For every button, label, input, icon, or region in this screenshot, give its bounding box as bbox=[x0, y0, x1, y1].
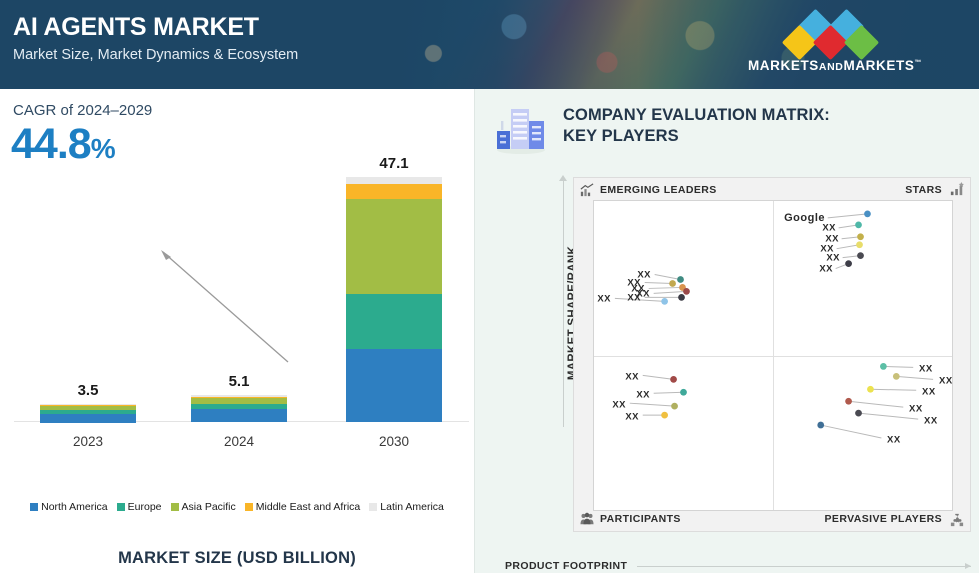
stacked-bar[interactable]: 5.1 bbox=[191, 395, 287, 422]
quadrant-label-participants: PARTICIPANTS bbox=[600, 513, 681, 525]
matrix-point-pervasive[interactable] bbox=[855, 410, 862, 417]
point-leader-line bbox=[645, 282, 673, 283]
legend-swatch bbox=[117, 503, 125, 511]
cem-title-line1: COMPANY EVALUATION MATRIX: bbox=[563, 105, 830, 126]
point-leader-line bbox=[859, 413, 919, 419]
header-text-block: AI AGENTS MARKET Market Size, Market Dyn… bbox=[13, 12, 298, 65]
matrix-label-xx: XX bbox=[636, 389, 650, 400]
matrix-points-svg bbox=[594, 201, 952, 510]
xaxis-arrow-line bbox=[637, 566, 971, 567]
cagr-label: CAGR of 2024–2029 bbox=[13, 102, 152, 119]
matrix-point-pervasive[interactable] bbox=[880, 363, 887, 370]
market-size-heading: MARKET SIZE (USD BILLION) bbox=[0, 549, 474, 568]
bar-chart-star-icon bbox=[950, 182, 964, 196]
chart-legend: North AmericaEuropeAsia PacificMiddle Ea… bbox=[0, 501, 474, 513]
bar-value-label: 5.1 bbox=[191, 373, 287, 395]
matrix-label-xx: XX bbox=[924, 415, 938, 426]
logo-word-markets-1: MARKETS bbox=[748, 58, 819, 73]
matrix-point-emerging[interactable] bbox=[661, 298, 668, 305]
bar-segment-north-america bbox=[191, 409, 287, 422]
point-leader-line bbox=[849, 401, 904, 407]
matrix-point-stars[interactable] bbox=[857, 252, 864, 259]
point-leader-line bbox=[828, 214, 868, 218]
bar-group: 3.52023 bbox=[40, 404, 136, 422]
matrix-label-xx: XX bbox=[625, 411, 639, 422]
page-header: AI AGENTS MARKET Market Size, Market Dyn… bbox=[0, 0, 979, 89]
company-evaluation-matrix: MARKET SHARE/RANK EMERGING LEADERS STARS bbox=[505, 177, 971, 557]
bar-segment-europe bbox=[346, 294, 442, 348]
matrix-label-xx: XX bbox=[909, 403, 923, 414]
stacked-bar[interactable]: 3.5 bbox=[40, 404, 136, 422]
point-leader-line bbox=[655, 275, 681, 280]
logo-wordmark: MARKETSANDMARKETS™ bbox=[737, 58, 933, 73]
legend-item[interactable]: Latin America bbox=[369, 501, 444, 513]
page-title: AI AGENTS MARKET bbox=[13, 12, 298, 42]
matrix-point-participants[interactable] bbox=[661, 412, 668, 419]
legend-label: Asia Pacific bbox=[182, 501, 236, 513]
matrix-point-pervasive[interactable] bbox=[817, 422, 824, 429]
bar-category-label: 2030 bbox=[324, 422, 464, 449]
quadrant-label-emerging-leaders: EMERGING LEADERS bbox=[600, 184, 717, 196]
quadrant-label-stars: STARS bbox=[905, 184, 942, 196]
bar-value-label: 47.1 bbox=[346, 155, 442, 177]
matrix-box: EMERGING LEADERS STARS PARTICIPANTS PERV… bbox=[573, 177, 971, 532]
legend-label: Europe bbox=[128, 501, 162, 513]
point-leader-line bbox=[883, 366, 913, 367]
matrix-point-emerging[interactable] bbox=[678, 294, 685, 301]
matrix-label-xx: XX bbox=[612, 399, 626, 410]
point-leader-line bbox=[654, 392, 684, 393]
quadrant-label-pervasive-players: PERVASIVE PLAYERS bbox=[825, 513, 942, 525]
matrix-point-stars[interactable] bbox=[864, 211, 871, 218]
legend-swatch bbox=[369, 503, 377, 511]
logo-word-markets-2: MARKETS bbox=[843, 58, 914, 73]
matrix-label-xx: XX bbox=[826, 253, 840, 264]
legend-label: Latin America bbox=[380, 501, 444, 513]
matrix-point-stars[interactable] bbox=[857, 233, 864, 240]
matrix-label-xx: XX bbox=[627, 293, 641, 304]
cem-title-line2: KEY PLAYERS bbox=[563, 126, 830, 147]
bar-segment-asia-pacific bbox=[346, 199, 442, 295]
bar-category-label: 2023 bbox=[18, 422, 158, 449]
point-leader-line bbox=[643, 375, 674, 379]
logo-trademark: ™ bbox=[914, 60, 922, 67]
point-leader-line bbox=[649, 287, 683, 288]
bar-group: 47.12030 bbox=[346, 177, 442, 422]
legend-item[interactable]: Middle East and Africa bbox=[245, 501, 360, 513]
matrix-point-pervasive[interactable] bbox=[845, 398, 852, 405]
bar-segment-middle-east-and-africa bbox=[346, 184, 442, 199]
matrix-point-participants[interactable] bbox=[670, 376, 677, 383]
matrix-label-xx: XX bbox=[625, 371, 639, 382]
legend-item[interactable]: North America bbox=[30, 501, 108, 513]
matrix-label-xx: XX bbox=[939, 375, 953, 386]
matrix-label-xx: XX bbox=[597, 294, 611, 305]
matrix-point-stars[interactable] bbox=[856, 241, 863, 248]
point-leader-line bbox=[837, 245, 860, 249]
legend-swatch bbox=[30, 503, 38, 511]
matrix-point-pervasive[interactable] bbox=[867, 386, 874, 393]
market-size-bar-chart: 3.520235.1202447.12030 bbox=[8, 144, 470, 469]
matrix-label-xx: XX bbox=[919, 363, 933, 374]
page-subtitle: Market Size, Market Dynamics & Ecosystem bbox=[13, 45, 298, 65]
marketsandmarkets-logo[interactable]: MARKETSANDMARKETS™ bbox=[737, 12, 933, 73]
bar-value-label: 3.5 bbox=[40, 382, 136, 404]
trending-up-icon bbox=[580, 183, 594, 197]
matrix-point-participants[interactable] bbox=[671, 403, 678, 410]
xaxis-product-footprint: PRODUCT FOOTPRINT bbox=[505, 560, 971, 572]
legend-item[interactable]: Asia Pacific bbox=[171, 501, 236, 513]
company-evaluation-header: COMPANY EVALUATION MATRIX: KEY PLAYERS bbox=[493, 101, 830, 155]
matrix-point-participants[interactable] bbox=[680, 389, 687, 396]
bar-group: 5.12024 bbox=[191, 395, 287, 422]
legend-swatch bbox=[245, 503, 253, 511]
office-building-icon bbox=[493, 101, 549, 155]
bar-segment-latin-america bbox=[346, 177, 442, 184]
company-evaluation-title: COMPANY EVALUATION MATRIX: KEY PLAYERS bbox=[563, 101, 830, 147]
matrix-label-xx: XX bbox=[822, 223, 836, 234]
right-panel: COMPANY EVALUATION MATRIX: KEY PLAYERS M… bbox=[475, 89, 979, 573]
legend-swatch bbox=[171, 503, 179, 511]
point-leader-line bbox=[896, 376, 933, 379]
point-leader-line bbox=[630, 403, 675, 406]
puzzle-piece-icon bbox=[950, 513, 964, 527]
matrix-point-pervasive[interactable] bbox=[893, 373, 900, 380]
bar-category-label: 2024 bbox=[169, 422, 309, 449]
stacked-bar[interactable]: 47.1 bbox=[346, 177, 442, 422]
logo-word-and: AND bbox=[819, 61, 844, 73]
matrix-label-xx: XX bbox=[922, 386, 936, 397]
point-leader-line bbox=[870, 389, 916, 390]
left-panel: CAGR of 2024–2029 44.8% 3.520235.1202447… bbox=[0, 89, 474, 573]
matrix-point-emerging[interactable] bbox=[669, 280, 676, 287]
matrix-label-xx: XX bbox=[819, 264, 833, 275]
matrix-point-stars[interactable] bbox=[855, 221, 862, 228]
legend-label: North America bbox=[41, 501, 108, 513]
bar-segment-north-america bbox=[346, 349, 442, 422]
logo-diamonds-icon bbox=[773, 12, 897, 56]
matrix-label-xx: XX bbox=[887, 434, 901, 445]
people-group-icon bbox=[580, 512, 594, 526]
matrix-plot-area: GoogleXXXXXXXXXXXXXXXXXXXXXXXXXXXXXXXXXX… bbox=[593, 200, 953, 511]
point-leader-line bbox=[821, 425, 882, 438]
matrix-label-google: Google bbox=[784, 212, 825, 224]
matrix-point-emerging[interactable] bbox=[677, 276, 684, 283]
point-leader-line bbox=[654, 291, 687, 293]
yaxis-line bbox=[563, 179, 564, 427]
matrix-point-stars[interactable] bbox=[845, 260, 852, 267]
legend-item[interactable]: Europe bbox=[117, 501, 162, 513]
xaxis-label: PRODUCT FOOTPRINT bbox=[505, 560, 627, 572]
legend-label: Middle East and Africa bbox=[256, 501, 360, 513]
matrix-point-emerging[interactable] bbox=[683, 288, 690, 295]
